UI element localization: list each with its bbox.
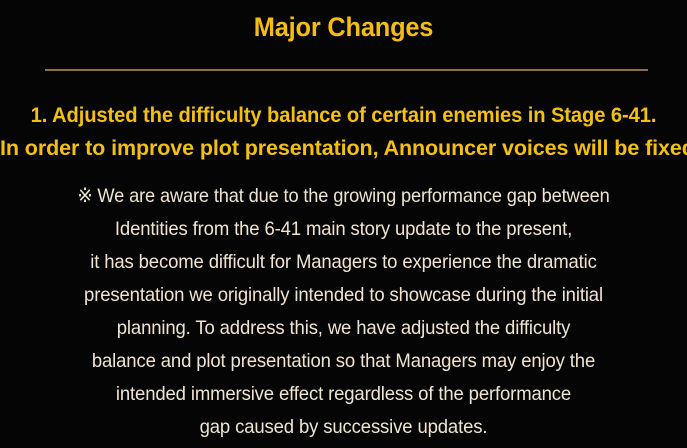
body-paragraph: ※ We are aware that due to the growing p… xyxy=(0,180,687,444)
body-line-5: planning. To address this, we have adjus… xyxy=(17,312,670,345)
change-list: 1. Adjusted the difficulty balance of ce… xyxy=(0,99,687,165)
body-line-7: intended immersive effect regardless of … xyxy=(17,378,670,411)
major-changes-notice-panel: Major Changes 1. Adjusted the difficulty… xyxy=(0,0,687,448)
body-line-2: Identities from the 6-41 main story upda… xyxy=(17,213,670,246)
page-title: Major Changes xyxy=(21,9,667,45)
body-line-8: gap caused by successive updates. xyxy=(17,411,670,444)
change-line-1: 1. Adjusted the difficulty balance of ce… xyxy=(14,99,674,132)
body-line-4: presentation we originally intended to s… xyxy=(17,279,670,312)
change-line-2: In order to improve plot presentation, A… xyxy=(0,132,687,165)
body-line-6: balance and plot presentation so that Ma… xyxy=(17,345,670,378)
body-line-3: it has become difficult for Managers to … xyxy=(17,246,670,279)
title-divider xyxy=(45,69,648,71)
body-line-1: ※ We are aware that due to the growing p… xyxy=(22,180,664,213)
